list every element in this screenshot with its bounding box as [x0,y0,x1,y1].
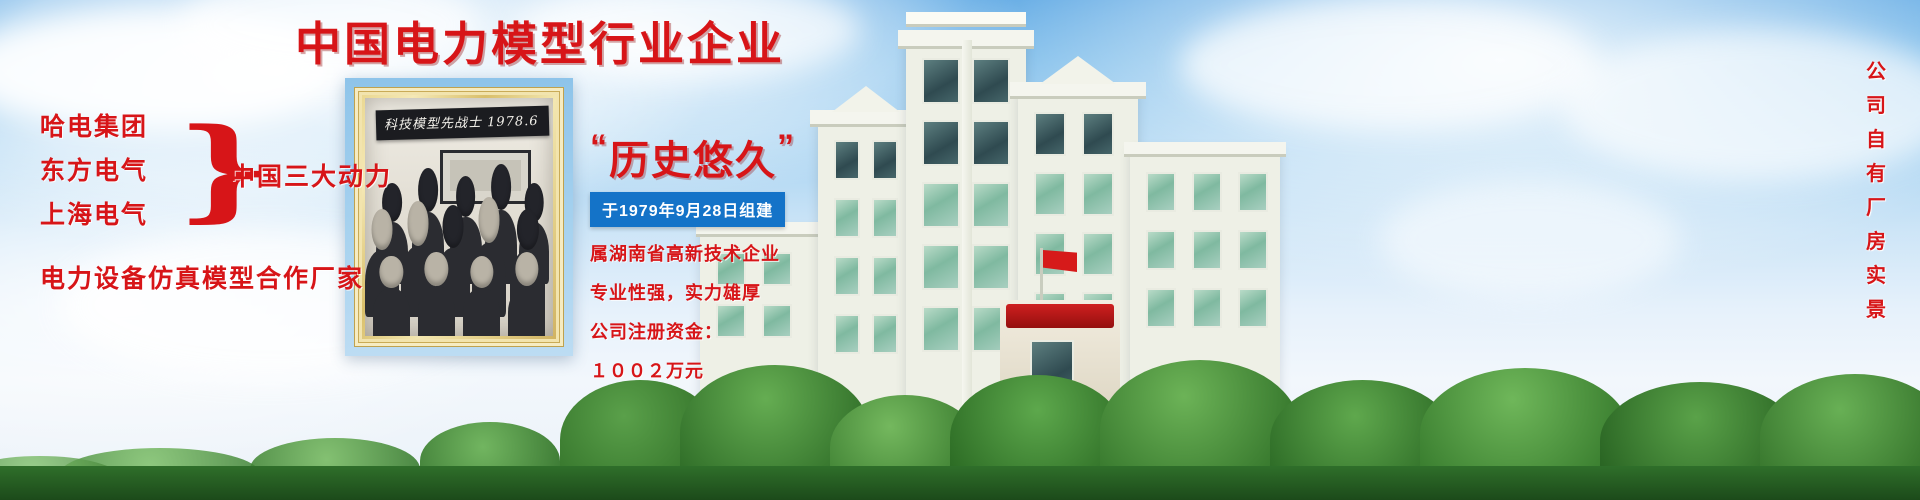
cloud-puff [1380,180,1680,300]
page-title: 中国电力模型行业企业 [0,8,1080,74]
historical-group-photo: 科技模型先战士 1978.6 [365,98,553,336]
history-detail-line: 公司注册资金： [590,318,820,344]
photo-banner-strip: 科技模型先战士 1978.6 [376,105,550,140]
gold-frame-border: 科技模型先战士 1978.6 [354,87,564,347]
vertical-caption-char: 有 [1866,157,1886,191]
vertical-caption-char: 景 [1866,293,1886,327]
vertical-caption-char: 房 [1866,225,1886,259]
tree-foreground [0,350,1920,500]
historical-photo-frame: 科技模型先战士 1978.6 [345,78,573,356]
photo-person [373,288,411,336]
history-detail-line: １００２万元 [590,357,820,383]
photo-wall-plaque [440,150,531,204]
quote-close: ” [777,128,796,166]
quote-open: “ [590,128,609,166]
photo-person [418,286,456,336]
vertical-caption-char: 公 [1866,55,1886,89]
photo-person [463,288,501,336]
brand-list: 哈电集团 东方电气 上海电气 } 中国三大动力 [40,105,364,237]
history-text-block: “历史悠久” 于1979年9月28日组建 属湖南省高新技术企业 专业性强，实力雄… [590,128,820,383]
partner-tagline: 电力设备仿真模型合作厂家 [40,259,364,295]
curly-brace-icon: } [176,109,238,239]
history-detail-line: 属湖南省高新技术企业 [590,240,820,266]
history-heading-text: 历史悠久 [609,139,777,183]
brace-label: 中国三大动力 [230,157,392,193]
photo-banner-text: 科技模型先战士 1978.6 [384,109,539,132]
ground-strip [0,466,1920,500]
history-heading: “历史悠久” [590,128,820,186]
vertical-caption-char: 厂 [1866,191,1886,225]
vertical-caption-char: 实 [1866,259,1886,293]
vertical-caption-char: 司 [1866,89,1886,123]
company-promo-banner: 中国电力模型行业企业 哈电集团 东方电气 上海电气 } 中国三大动力 电力设备仿… [0,0,1920,500]
photo-person [508,286,546,336]
vertical-caption: 公 司 自 有 厂 房 实 景 [1866,55,1886,327]
founding-date-badge: 于1979年9月28日组建 [590,192,785,227]
left-text-group: 哈电集团 东方电气 上海电气 } 中国三大动力 电力设备仿真模型合作厂家 [40,105,364,295]
vertical-caption-char: 自 [1866,123,1886,157]
history-detail-line: 专业性强，实力雄厚 [590,279,820,305]
